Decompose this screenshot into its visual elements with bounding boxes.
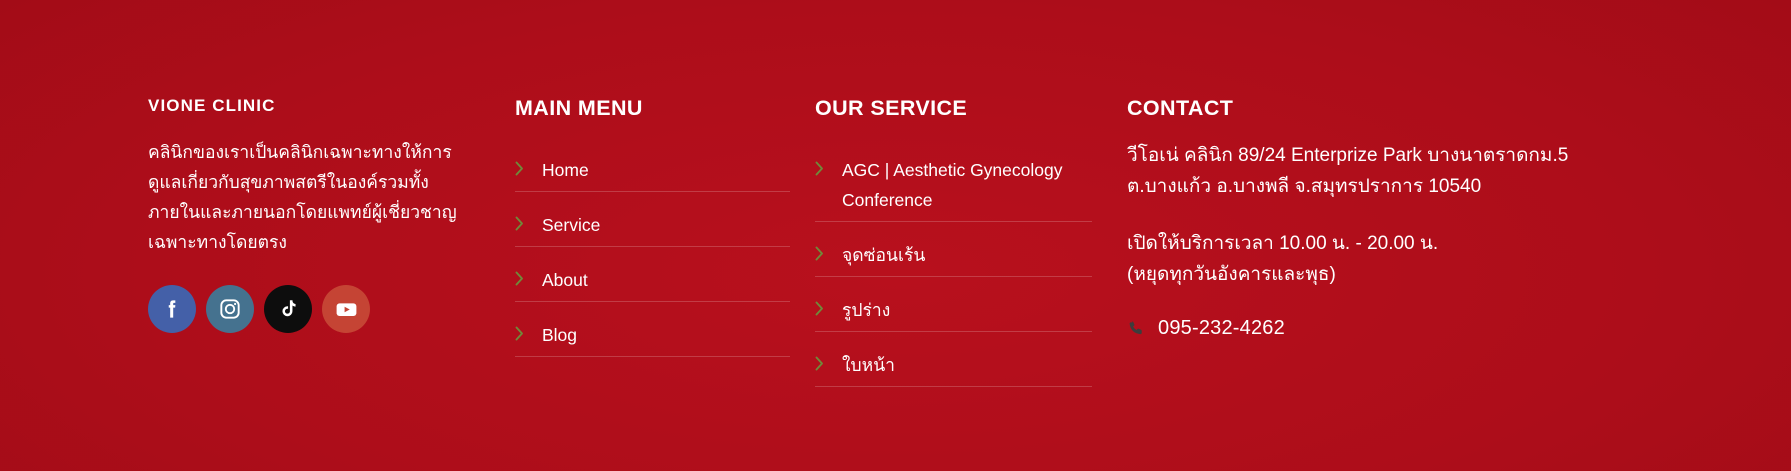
tiktok-icon [276,297,300,321]
chevron-right-icon [515,321,542,341]
social-link-facebook[interactable] [148,285,196,333]
footer-column-contact: CONTACT วีโอเน่ คลินิก 89/24 Enterprize … [1127,96,1597,340]
spacer [515,192,790,204]
our-service-item-label: ใบหน้า [842,350,895,380]
our-service-item-label: รูปร่าง [842,295,890,325]
youtube-icon [333,296,360,323]
spacer [515,302,790,314]
instagram-icon [217,296,243,322]
contact-hours-line2: (หยุดทุกวันอังคารและพุธ) [1127,259,1597,290]
main-menu-item-label: Service [542,210,600,240]
our-service-item-label: จุดซ่อนเร้น [842,240,925,270]
contact-hours-line1: เปิดให้บริการเวลา 10.00 น. - 20.00 น. [1127,228,1597,259]
facebook-icon [159,296,185,322]
social-link-instagram[interactable] [206,285,254,333]
social-link-tiktok[interactable] [264,285,312,333]
our-service-item-face[interactable]: ใบหน้า [815,344,1092,386]
footer-columns: VIONE CLINIC คลินิกของเราเป็นคลินิกเฉพาะ… [0,0,1791,471]
main-menu-item-home[interactable]: Home [515,149,790,191]
our-service-item-intimate[interactable]: จุดซ่อนเร้น [815,234,1092,276]
brand-heading: VIONE CLINIC [148,96,478,116]
footer-column-main-menu: MAIN MENU Home Service [515,96,790,357]
main-menu-item-service[interactable]: Service [515,204,790,246]
chevron-right-icon [815,156,842,176]
spacer [815,332,1092,344]
our-service-heading: OUR SERVICE [815,96,1092,121]
contact-heading: CONTACT [1127,96,1597,121]
main-menu-divider [515,356,790,357]
our-service-list: AGC | Aesthetic Gynecology Conference จุ… [815,149,1092,387]
contact-hours: เปิดให้บริการเวลา 10.00 น. - 20.00 น. (ห… [1127,228,1597,290]
main-menu-heading: MAIN MENU [515,96,790,121]
main-menu-item-label: Blog [542,320,577,350]
contact-phone-number: 095-232-4262 [1158,317,1285,340]
our-service-item-label: AGC | Aesthetic Gynecology Conference [842,155,1092,215]
social-links [148,285,478,333]
chevron-right-icon [515,156,542,176]
our-service-item-body[interactable]: รูปร่าง [815,289,1092,331]
spacer [815,277,1092,289]
chevron-right-icon [815,241,842,261]
main-menu-item-label: Home [542,155,589,185]
chevron-right-icon [815,351,842,371]
phone-icon [1127,319,1146,338]
chevron-right-icon [515,266,542,286]
site-footer: VIONE CLINIC คลินิกของเราเป็นคลินิกเฉพาะ… [0,0,1791,471]
our-service-divider [815,386,1092,387]
main-menu-item-blog[interactable]: Blog [515,314,790,356]
social-link-youtube[interactable] [322,285,370,333]
contact-phone-link[interactable]: 095-232-4262 [1127,317,1597,340]
main-menu-list: Home Service About [515,149,790,357]
chevron-right-icon [815,296,842,316]
brand-description: คลินิกของเราเป็นคลินิกเฉพาะทางให้การดูแล… [148,137,478,257]
contact-address: วีโอเน่ คลินิก 89/24 Enterprize Park บาง… [1127,140,1597,202]
footer-column-our-service: OUR SERVICE AGC | Aesthetic Gynecology C… [815,96,1092,387]
footer-column-brand: VIONE CLINIC คลินิกของเราเป็นคลินิกเฉพาะ… [148,96,478,333]
chevron-right-icon [515,211,542,231]
main-menu-item-about[interactable]: About [515,259,790,301]
spacer [815,222,1092,234]
our-service-item-agc[interactable]: AGC | Aesthetic Gynecology Conference [815,149,1092,221]
main-menu-item-label: About [542,265,588,295]
spacer [515,247,790,259]
